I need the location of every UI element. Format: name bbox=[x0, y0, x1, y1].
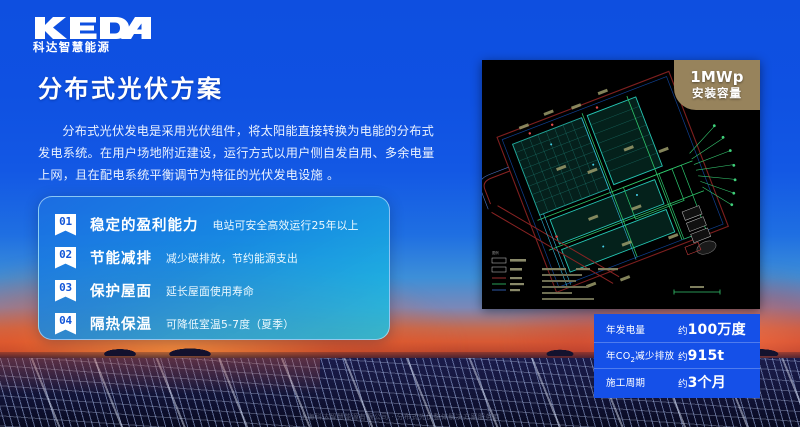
feature-row-03[interactable]: 03 保护屋面 延长屋面使用寿命 bbox=[39, 274, 389, 307]
feature-number-badge-icon: 04 bbox=[55, 313, 76, 335]
feature-desc: 电站可安全高效运行25年以上 bbox=[213, 217, 359, 233]
metric-number: 100万度 bbox=[688, 322, 746, 338]
feature-list-card: 01 稳定的盈利能力 电站可安全高效运行25年以上 02 节能减排 减少碳排放，… bbox=[38, 196, 390, 340]
feature-number-badge-icon: 01 bbox=[55, 214, 76, 236]
footer-note: 上海科达智慧能源有限公司 · 分布式光伏整体解决方案服务商 bbox=[0, 412, 800, 422]
feature-row-01[interactable]: 01 稳定的盈利能力 电站可安全高效运行25年以上 bbox=[39, 208, 389, 241]
brand-logo-chinese: 科达智慧能源 bbox=[33, 41, 153, 54]
feature-row-02[interactable]: 02 节能减排 减少碳排放，节约能源支出 bbox=[39, 241, 389, 274]
intro-text: 分布式光伏发电是采用光伏组件，将太阳能直接转换为电能的分布式发电系统。在用户场地… bbox=[38, 120, 438, 186]
metric-number: 3个月 bbox=[688, 375, 726, 391]
feature-desc: 可降低室温5-7度（夏季） bbox=[166, 316, 294, 332]
metric-value: 约3个月 bbox=[678, 372, 726, 392]
feature-title: 稳定的盈利能力 bbox=[90, 214, 199, 235]
metric-label-post: 减少排放 bbox=[635, 351, 674, 362]
metric-row-annual-generation: 年发电量 约100万度 bbox=[594, 316, 760, 342]
feature-number: 04 bbox=[59, 313, 72, 328]
svg-text:图例: 图例 bbox=[492, 250, 499, 255]
feature-number: 03 bbox=[59, 280, 72, 295]
metric-label-pre: 年CO bbox=[606, 351, 630, 362]
feature-number-badge-icon: 02 bbox=[55, 247, 76, 269]
metric-label: 年CO2减少排放 bbox=[606, 348, 678, 364]
metric-number: 915t bbox=[688, 348, 725, 364]
capacity-badge: 1MWp 安装容量 bbox=[674, 60, 760, 110]
panel-warm-reflection bbox=[0, 358, 320, 394]
intro-paragraph: 分布式光伏发电是采用光伏组件，将太阳能直接转换为电能的分布式发电系统。在用户场地… bbox=[38, 120, 438, 186]
metric-prefix: 约 bbox=[678, 352, 688, 363]
metric-label: 年发电量 bbox=[606, 322, 678, 336]
feature-title: 保护屋面 bbox=[90, 280, 152, 301]
metric-value: 约915t bbox=[678, 348, 724, 364]
feature-title: 隔热保温 bbox=[90, 313, 152, 334]
keda-logo-icon bbox=[33, 16, 151, 40]
capacity-label: 安装容量 bbox=[692, 86, 742, 101]
metric-value: 约100万度 bbox=[678, 319, 746, 339]
metric-prefix: 约 bbox=[678, 326, 688, 337]
feature-row-04[interactable]: 04 隔热保温 可降低室温5-7度（夏季） bbox=[39, 307, 389, 340]
page-title: 分布式光伏方案 bbox=[38, 74, 224, 104]
capacity-value: 1MWp bbox=[690, 69, 743, 86]
cad-site-plan-panel[interactable]: 图例 bbox=[482, 60, 760, 309]
slide-canvas: 科达智慧能源 分布式光伏方案 分布式光伏发电是采用光伏组件，将太阳能直接转换为电… bbox=[0, 0, 800, 427]
metric-row-co2-reduction: 年CO2减少排放 约915t bbox=[594, 342, 760, 368]
metric-label: 施工周期 bbox=[606, 375, 678, 389]
metric-row-construction-period: 施工周期 约3个月 bbox=[594, 368, 760, 394]
feature-number: 01 bbox=[59, 214, 72, 229]
feature-number-badge-icon: 03 bbox=[55, 280, 76, 302]
brand-logo: 科达智慧能源 bbox=[33, 16, 153, 56]
key-metrics-table: 年发电量 约100万度 年CO2减少排放 约915t 施工周期 约3个月 bbox=[594, 314, 760, 398]
feature-desc: 减少碳排放，节约能源支出 bbox=[166, 250, 298, 266]
feature-desc: 延长屋面使用寿命 bbox=[166, 283, 254, 299]
feature-title: 节能减排 bbox=[90, 247, 152, 268]
metric-prefix: 约 bbox=[678, 379, 688, 390]
feature-number: 02 bbox=[59, 247, 72, 262]
